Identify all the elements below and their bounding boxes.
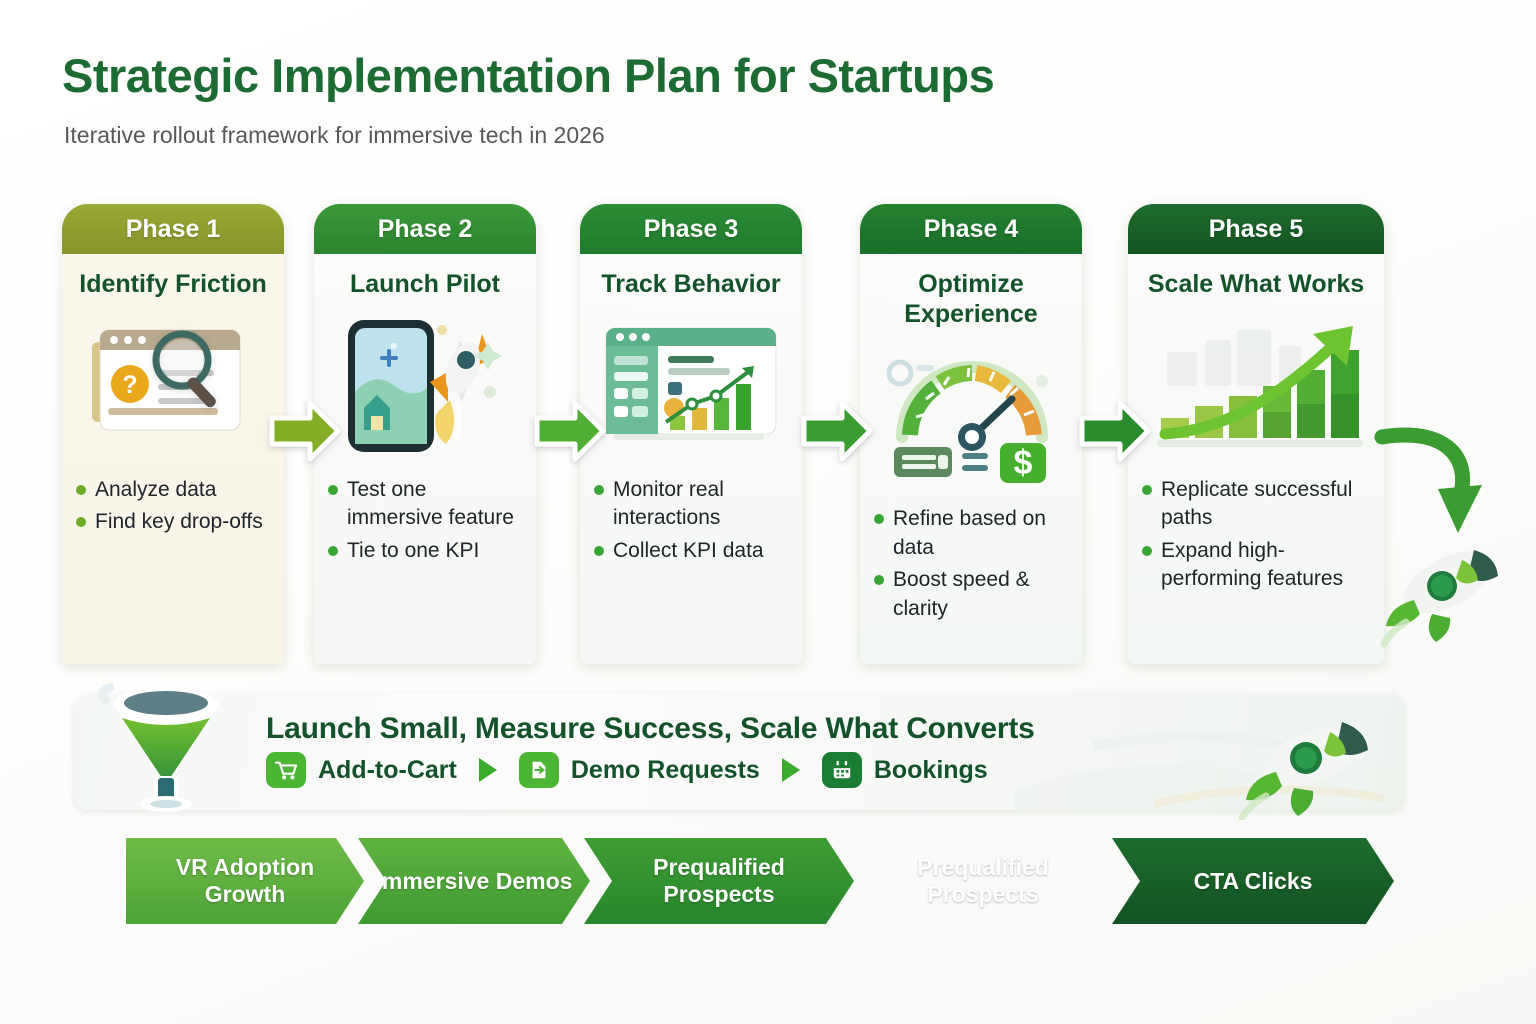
phase-title-4: Optimize Experience xyxy=(874,270,1068,329)
bullet-text: Tie to one KPI xyxy=(347,537,479,566)
phase-title-2: Launch Pilot xyxy=(350,270,500,300)
phase-title-1: Identify Friction xyxy=(79,270,267,300)
bullet-text: Replicate successful paths xyxy=(1161,476,1370,533)
bullet-item: Test one immersive feature xyxy=(328,476,522,533)
chip-separator-arrow-icon xyxy=(479,758,497,782)
chip-add-to-cart[interactable]: Add-to-Cart xyxy=(266,752,457,788)
rocket-icon xyxy=(1370,530,1520,650)
phase-card-2[interactable]: Phase 2 Launch Pilot xyxy=(314,204,536,664)
phase-card-4[interactable]: Phase 4 Optimize Experience xyxy=(860,204,1082,664)
bullet-text: Boost speed & clarity xyxy=(893,566,1068,623)
phase-title-3: Track Behavior xyxy=(601,270,780,300)
phase-badge-3: Phase 3 xyxy=(580,204,802,254)
bullet-item: Monitor real interactions xyxy=(594,476,788,533)
phase-bullets-2: Test one immersive feature Tie to one KP… xyxy=(326,476,524,570)
phase-bullets-4: Refine based on data Boost speed & clari… xyxy=(872,505,1070,627)
phase-bullets-5: Replicate successful paths Expand high-p… xyxy=(1140,476,1372,598)
calendar-icon xyxy=(822,752,862,788)
chip-separator-arrow-icon xyxy=(782,758,800,782)
phase-card-3[interactable]: Phase 3 Track Behavior xyxy=(580,204,802,664)
bullet-item: Expand high-performing features xyxy=(1142,537,1370,594)
bullet-text: Analyze data xyxy=(95,476,216,505)
phone-rocket-icon xyxy=(330,312,520,462)
bullet-dot xyxy=(1142,485,1152,495)
svg-text:$: $ xyxy=(1014,444,1033,482)
ribbon-step-5[interactable]: CTA Clicks xyxy=(1112,838,1394,924)
step-arrow-1-to-2 xyxy=(268,398,342,464)
phase-bullets-1: Analyze data Find key drop-offs xyxy=(74,476,272,541)
bullet-text: Test one immersive feature xyxy=(347,476,522,533)
ribbon-step-3[interactable]: Prequalified Prospects xyxy=(584,838,854,924)
chip-label: Add-to-Cart xyxy=(318,756,457,785)
conversion-chip-row: Add-to-Cart Demo Requests xyxy=(266,752,988,788)
phase-cards-row: Phase 1 Identify Friction ? xyxy=(0,204,1536,684)
page-subtitle: Iterative rollout framework for immersiv… xyxy=(64,122,605,149)
phase-card-5[interactable]: Phase 5 Scale What Works xyxy=(1128,204,1384,664)
funnel-icon xyxy=(86,678,246,814)
document-arrow-icon xyxy=(519,752,559,788)
bullet-dot xyxy=(328,546,338,556)
svg-text:?: ? xyxy=(122,371,137,399)
dashboard-chart-icon xyxy=(596,312,786,462)
step-arrow-4-to-5 xyxy=(1078,398,1152,464)
magnifier-browser-icon: ? xyxy=(78,312,268,462)
bullet-dot xyxy=(76,485,86,495)
phase-badge-4: Phase 4 xyxy=(860,204,1082,254)
bullet-item: Find key drop-offs xyxy=(76,508,270,537)
chip-bookings[interactable]: Bookings xyxy=(822,752,988,788)
phase-bullets-3: Monitor real interactions Collect KPI da… xyxy=(592,476,790,570)
ribbon-step-2[interactable]: Immersive Demos xyxy=(358,838,590,924)
bullet-dot xyxy=(1142,546,1152,556)
bullet-item: Boost speed & clarity xyxy=(874,566,1068,623)
phase-badge-2: Phase 2 xyxy=(314,204,536,254)
chip-demo-requests[interactable]: Demo Requests xyxy=(519,752,760,788)
bullet-text: Collect KPI data xyxy=(613,537,764,566)
growth-bars-arrow-icon xyxy=(1147,312,1365,462)
conversion-ribbon: VR Adoption Growth Immersive Demos Prequ… xyxy=(126,838,1394,924)
bullet-text: Refine based on data xyxy=(893,505,1068,562)
bullet-item: Analyze data xyxy=(76,476,270,505)
bullet-dot xyxy=(874,575,884,585)
curved-down-arrow-icon xyxy=(1372,425,1502,545)
gauge-dollar-icon: $ xyxy=(876,341,1066,491)
phase-title-5: Scale What Works xyxy=(1148,270,1364,300)
step-arrow-2-to-3 xyxy=(533,398,607,464)
chip-label: Bookings xyxy=(874,756,988,785)
bullet-item: Tie to one KPI xyxy=(328,537,522,566)
bullet-item: Refine based on data xyxy=(874,505,1068,562)
step-arrow-3-to-4 xyxy=(800,398,874,464)
bullet-text: Expand high-performing features xyxy=(1161,537,1370,594)
phase-badge-5: Phase 5 xyxy=(1128,204,1384,254)
bullet-text: Find key drop-offs xyxy=(95,508,263,537)
bullet-dot xyxy=(594,546,604,556)
ribbon-step-4[interactable]: Prequalified Prospects xyxy=(848,838,1118,924)
bullet-text: Monitor real interactions xyxy=(613,476,788,533)
bullet-dot xyxy=(328,485,338,495)
chip-label: Demo Requests xyxy=(571,756,760,785)
bullet-item: Collect KPI data xyxy=(594,537,788,566)
rocket-icon xyxy=(1230,700,1390,820)
infographic-canvas: Strategic Implementation Plan for Startu… xyxy=(0,0,1536,1024)
bullet-dot xyxy=(594,485,604,495)
page-title: Strategic Implementation Plan for Startu… xyxy=(62,48,994,103)
bullet-item: Replicate successful paths xyxy=(1142,476,1370,533)
ribbon-step-1[interactable]: VR Adoption Growth xyxy=(126,838,364,924)
bullet-dot xyxy=(874,514,884,524)
phase-card-1[interactable]: Phase 1 Identify Friction ? xyxy=(62,204,284,664)
bullet-dot xyxy=(76,517,86,527)
banner-headline: Launch Small, Measure Success, Scale Wha… xyxy=(266,712,1035,746)
shopping-cart-icon xyxy=(266,752,306,788)
phase-badge-1: Phase 1 xyxy=(62,204,284,254)
